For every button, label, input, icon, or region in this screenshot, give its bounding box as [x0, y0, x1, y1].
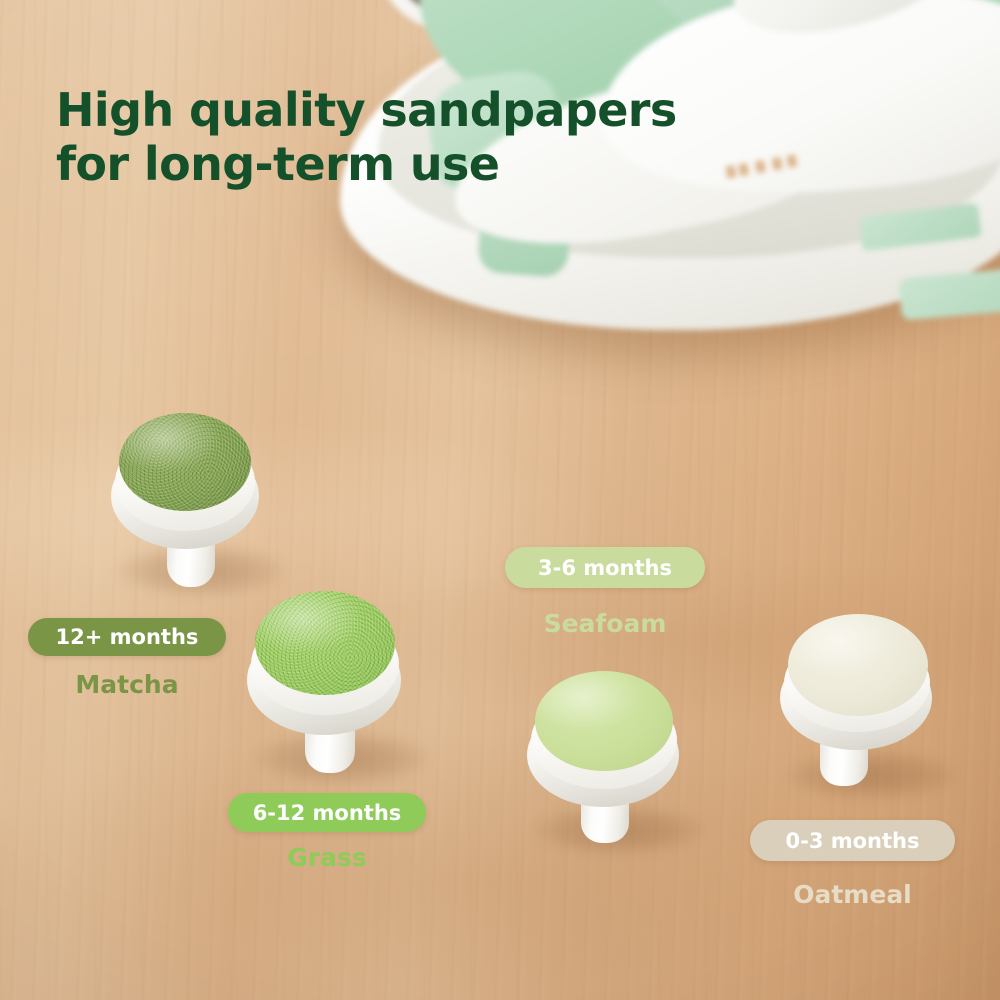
- sandpaper-head-seafoam: [525, 665, 715, 855]
- page-title: High quality sandpapers for long-term us…: [56, 83, 816, 192]
- badge-0-3-months: 0-3 months: [750, 820, 955, 861]
- badge-6-12-months: 6-12 months: [228, 793, 426, 832]
- head-sandpaper-disc: [255, 591, 395, 695]
- badge-12-plus-months: 12+ months: [28, 618, 226, 656]
- sandpaper-head-matcha: [105, 405, 295, 600]
- caption-seafoam: Seafoam: [505, 609, 705, 638]
- product-feature-image: High quality sandpapers for long-term us…: [0, 0, 1000, 1000]
- caption-grass: Grass: [228, 843, 426, 872]
- head-sandpaper-disc: [535, 671, 673, 771]
- head-sandpaper-disc: [119, 413, 251, 511]
- head-shadow: [786, 750, 956, 800]
- head-sandpaper-disc: [788, 614, 928, 716]
- caption-oatmeal: Oatmeal: [750, 880, 955, 909]
- sandpaper-head-grass: [245, 585, 435, 785]
- caption-matcha: Matcha: [28, 670, 226, 699]
- badge-3-6-months: 3-6 months: [505, 547, 705, 588]
- sandpaper-head-oatmeal: [780, 612, 970, 802]
